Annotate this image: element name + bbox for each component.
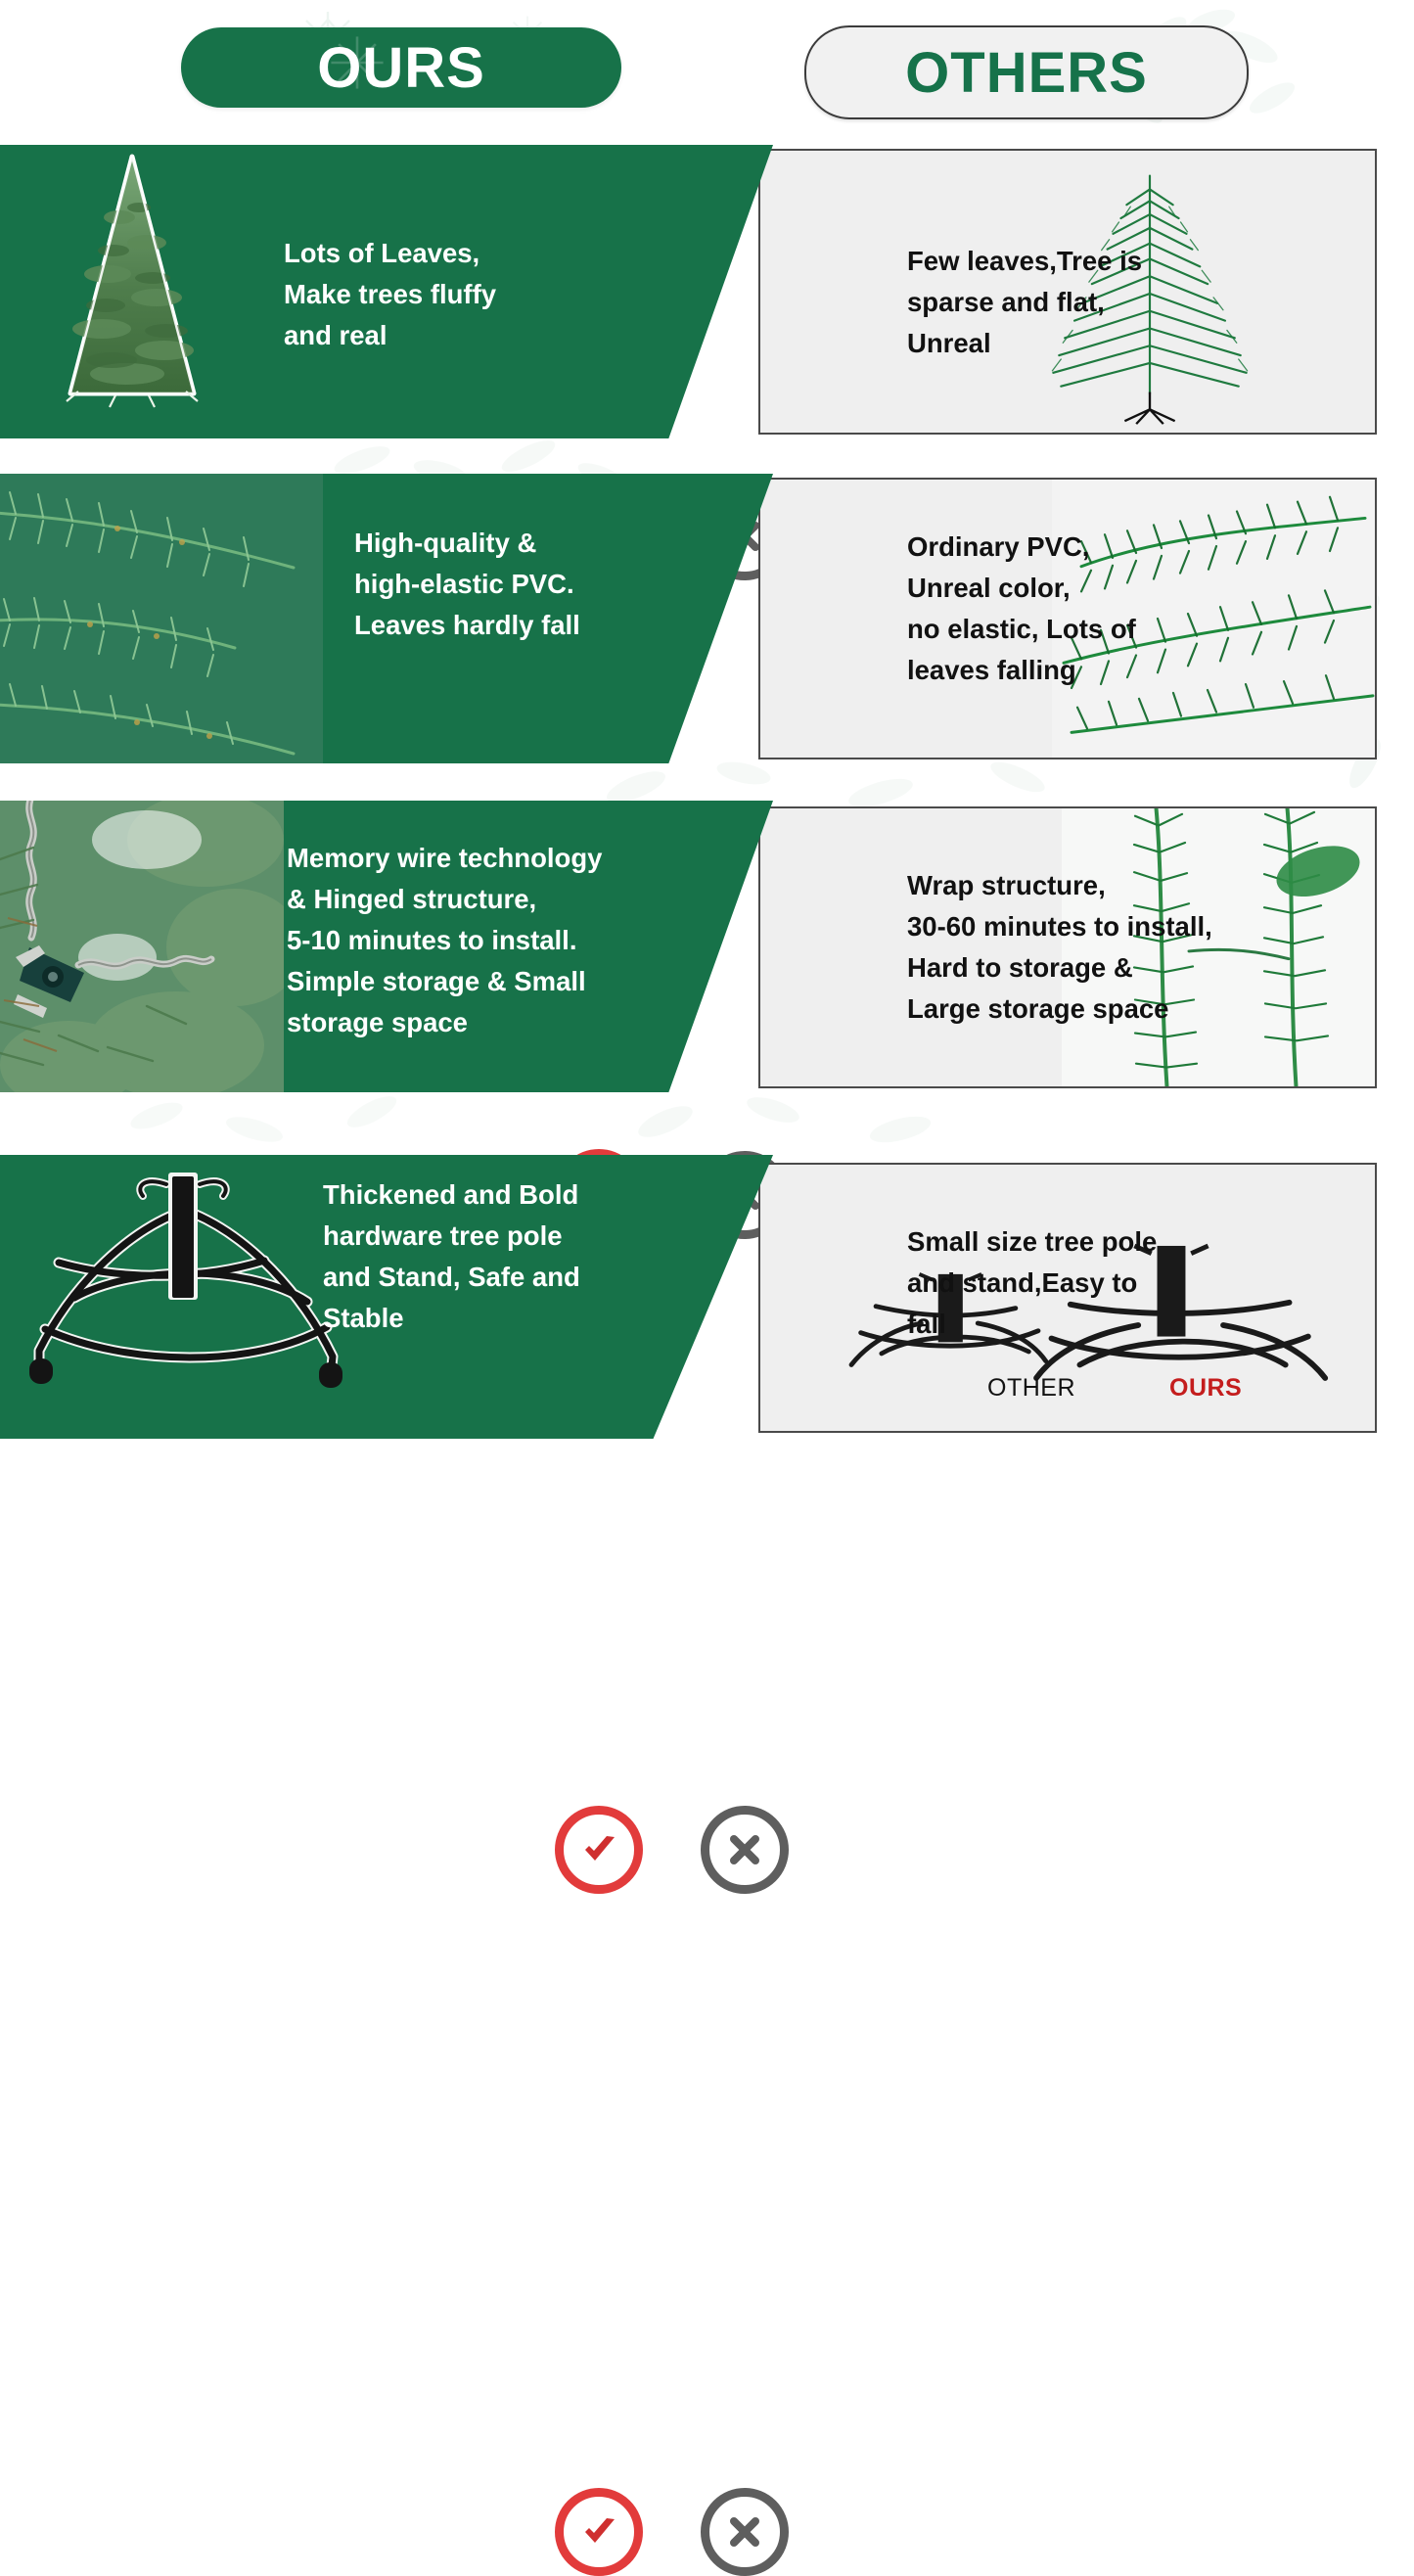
ours-text: Thickened and Bold hardware tree pole an… [323, 1174, 580, 1339]
others-text: Ordinary PVC, Unreal color, no elastic, … [907, 527, 1136, 691]
header-pill-ours: OURS [181, 27, 621, 108]
comparison-row: Few leaves,Tree is sparse and flat, Unre… [0, 145, 1414, 438]
ours-text: Lots of Leaves, Make trees fluffy and re… [284, 233, 496, 356]
ours-panel: Lots of Leaves, Make trees fluffy and re… [0, 145, 773, 438]
header: OURS OTHERS [0, 0, 1414, 137]
x-circle-icon [701, 1806, 789, 1894]
comparison-row: Ordinary PVC, Unreal color, no elastic, … [0, 474, 1414, 763]
others-text: Small size tree pole and stand,Easy to f… [907, 1221, 1157, 1345]
header-others-label: OTHERS [905, 40, 1148, 106]
ours-image-memory-wire-hinge [0, 801, 284, 1092]
x-circle-icon [701, 2488, 789, 2576]
ours-panel: Thickened and Bold hardware tree pole an… [0, 1155, 773, 1439]
ours-panel: Memory wire technology & Hinged structur… [0, 801, 773, 1092]
comparison-row: OTHER OURS Small size tree pole and stan… [0, 1155, 1414, 1439]
others-text: Wrap structure, 30-60 minutes to install… [907, 865, 1212, 1030]
ours-text: High-quality & high-elastic PVC. Leaves … [354, 523, 580, 646]
others-panel: OTHER OURS Small size tree pole and stan… [758, 1163, 1377, 1433]
check-circle-icon [555, 2488, 643, 2576]
others-panel: Ordinary PVC, Unreal color, no elastic, … [758, 478, 1377, 759]
header-pill-others: OTHERS [804, 25, 1249, 119]
caption-other: OTHER [987, 1374, 1075, 1403]
comparison-row: Wrap structure, 30-60 minutes to install… [0, 801, 1414, 1092]
leaf-watermark [616, 1086, 1027, 1160]
ours-image-pine-branch [0, 474, 323, 763]
others-panel: Few leaves,Tree is sparse and flat, Unre… [758, 149, 1377, 435]
ours-text: Memory wire technology & Hinged structur… [287, 838, 602, 1043]
leaf-watermark [117, 1086, 450, 1155]
ours-image-tree-stand [20, 1155, 342, 1439]
ours-panel: High-quality & high-elastic PVC. Leaves … [0, 474, 773, 763]
others-panel: Wrap structure, 30-60 minutes to install… [758, 806, 1377, 1088]
check-circle-icon [555, 1806, 643, 1894]
ours-image-tree-dense [10, 145, 254, 438]
snowflake-icon [328, 33, 387, 92]
others-text: Few leaves,Tree is sparse and flat, Unre… [907, 241, 1142, 364]
caption-ours: OURS [1169, 1374, 1242, 1403]
